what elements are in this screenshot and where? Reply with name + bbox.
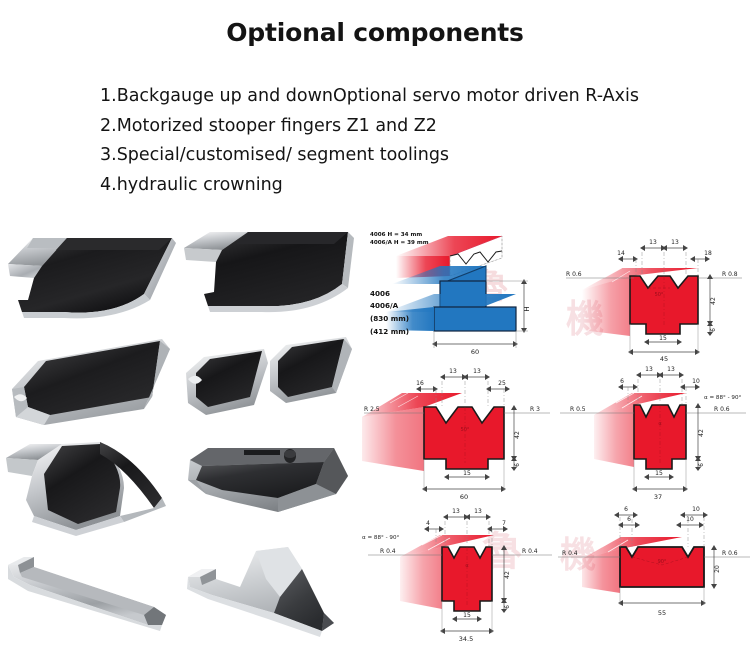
svg-text:13: 13 — [474, 508, 482, 515]
svg-text:14: 14 — [617, 250, 625, 257]
tooling-photo — [182, 226, 356, 331]
svg-text:13: 13 — [452, 508, 460, 515]
technical-drawings-grid: 魯 — [362, 226, 750, 646]
svg-text:15: 15 — [655, 470, 663, 477]
drawing-die-45: 機 50° 13 13 — [558, 226, 750, 363]
drawing-die-345: 魯 α 13 13 4 — [362, 503, 554, 643]
page-title: Optional components — [0, 18, 750, 47]
press-brake-die-5-icon — [4, 436, 178, 541]
drawing-die-37: α 13 13 6 10 — [558, 363, 750, 503]
list-item: 3.Special/customised/ segment toolings — [100, 141, 700, 171]
svg-text:37: 37 — [654, 493, 662, 501]
svg-text:15: 15 — [463, 470, 471, 477]
svg-text:R 0.4: R 0.4 — [380, 548, 396, 555]
svg-text:13: 13 — [649, 239, 657, 246]
drawing-die-55: 機 90° 6 6 10 — [558, 503, 750, 643]
svg-text:6: 6 — [624, 506, 628, 513]
svg-text:18: 18 — [704, 250, 712, 257]
svg-text:6: 6 — [698, 463, 705, 467]
svg-text:10: 10 — [692, 506, 700, 513]
svg-text:13: 13 — [449, 368, 457, 375]
svg-text:13: 13 — [473, 368, 481, 375]
svg-text:50°: 50° — [461, 427, 470, 433]
svg-text:42: 42 — [504, 571, 511, 579]
svg-text:R 0.5: R 0.5 — [570, 406, 586, 413]
svg-text:60: 60 — [460, 493, 468, 501]
svg-text:42: 42 — [698, 429, 705, 437]
svg-text:R 0.4: R 0.4 — [522, 548, 538, 555]
list-item: 4.hydraulic crowning — [100, 171, 700, 201]
svg-text:R 0.8: R 0.8 — [722, 271, 738, 278]
svg-text:R 0.6: R 0.6 — [714, 406, 730, 413]
svg-text:6: 6 — [710, 328, 717, 332]
svg-text:4006: 4006 — [370, 289, 390, 298]
optional-components-list: 1.Backgauge up and downOptional servo mo… — [100, 82, 700, 200]
press-brake-die-2-icon — [182, 226, 356, 331]
drawing-die-60: 50° 13 13 16 25 — [362, 363, 554, 503]
svg-text:42: 42 — [514, 431, 521, 439]
svg-text:4006/A H = 39 mm: 4006/A H = 39 mm — [370, 240, 429, 246]
svg-text:H: H — [523, 306, 531, 311]
svg-text:4006/A: 4006/A — [370, 301, 399, 310]
svg-text:6: 6 — [627, 516, 631, 523]
svg-text:15: 15 — [659, 335, 667, 342]
press-brake-die-4-icon — [182, 331, 356, 436]
svg-text:42: 42 — [710, 297, 717, 305]
svg-text:55: 55 — [658, 609, 666, 617]
tooling-photo — [4, 331, 178, 436]
svg-text:10: 10 — [686, 516, 694, 523]
svg-text:R 0.6: R 0.6 — [722, 550, 738, 557]
svg-text:16: 16 — [416, 380, 424, 387]
svg-text:R 0.6: R 0.6 — [566, 271, 582, 278]
svg-text:10: 10 — [692, 378, 700, 385]
svg-text:45: 45 — [660, 355, 668, 363]
press-brake-die-3-icon — [4, 331, 178, 436]
svg-text:13: 13 — [667, 366, 675, 373]
svg-text:60: 60 — [471, 348, 479, 356]
svg-text:(412 mm): (412 mm) — [370, 327, 409, 336]
tooling-photo — [182, 436, 356, 541]
tooling-photo — [182, 541, 356, 646]
page-root: Optional components 1.Backgauge up and d… — [0, 0, 750, 653]
press-brake-die-7-icon — [4, 541, 178, 646]
tooling-photo — [182, 331, 356, 436]
svg-text:13: 13 — [671, 239, 679, 246]
svg-text:6: 6 — [514, 463, 521, 467]
svg-text:15: 15 — [463, 612, 471, 619]
press-brake-die-8-icon — [182, 541, 356, 646]
svg-text:6: 6 — [504, 605, 511, 609]
svg-text:R 0.4: R 0.4 — [562, 550, 578, 557]
press-brake-die-6-icon — [182, 436, 356, 541]
svg-text:6: 6 — [620, 378, 624, 385]
svg-text:4: 4 — [426, 520, 430, 527]
svg-text:20: 20 — [714, 565, 721, 573]
svg-text:7: 7 — [502, 520, 506, 527]
svg-text:α = 88° - 90°: α = 88° - 90° — [704, 395, 742, 401]
list-item: 2.Motorized stooper fingers Z1 and Z2 — [100, 112, 700, 142]
svg-text:34.5: 34.5 — [459, 635, 473, 643]
list-item: 1.Backgauge up and downOptional servo mo… — [100, 82, 700, 112]
tooling-photo — [4, 436, 178, 541]
tooling-photo-grid — [4, 226, 356, 646]
svg-text:50°: 50° — [655, 292, 664, 298]
drawing-4006-assembly: 魯 — [362, 226, 554, 363]
tooling-photo — [4, 226, 178, 331]
svg-text:R 3: R 3 — [530, 406, 540, 413]
svg-text:α = 88° - 90°: α = 88° - 90° — [362, 535, 400, 541]
press-brake-die-1-icon — [4, 226, 178, 331]
tooling-photo — [4, 541, 178, 646]
svg-text:25: 25 — [498, 380, 506, 387]
svg-text:R 2.5: R 2.5 — [364, 406, 380, 413]
svg-text:4006 H = 34 mm: 4006 H = 34 mm — [370, 232, 422, 238]
svg-text:(830 mm): (830 mm) — [370, 314, 409, 323]
svg-text:13: 13 — [645, 366, 653, 373]
